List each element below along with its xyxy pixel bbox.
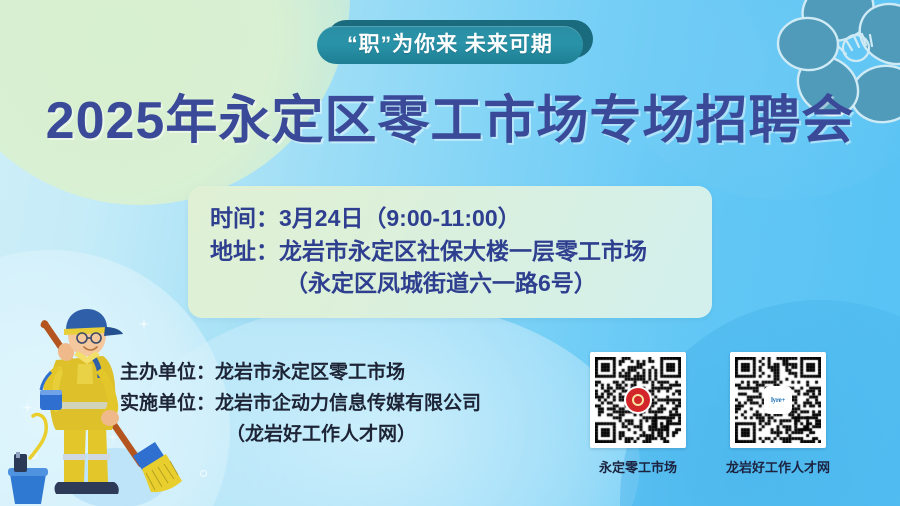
qr-center-logo-emblem-icon [626,388,650,412]
qr-code-row: 永定零工市场 lyre+ 龙岩好工作人才网 [590,352,830,476]
worker-with-broom-illustration [4,306,204,506]
ribbon-banner: “职”为你来 未来可期 [0,26,900,64]
event-address-line-2: （永定区凤城街道六一路6号） [210,267,690,300]
cap-icon [66,309,107,330]
ribbon-pill: “职”为你来 未来可期 [317,26,583,64]
qr-code-image-2[interactable]: lyre+ [730,352,826,448]
qr-code-item-2[interactable]: lyre+ 龙岩好工作人才网 [726,352,830,476]
qr-code-caption-2: 龙岩好工作人才网 [726,457,830,476]
hand [101,410,119,426]
qr-code-caption-1: 永定零工市场 [599,457,677,476]
event-address-line-1: 地址：龙岩市永定区社保大楼一层零工市场 [210,235,690,268]
hose-icon [30,414,46,458]
event-time-line: 时间：3月24日（9:00-11:00） [210,202,690,235]
qr-code-image-1[interactable] [590,352,686,448]
ribbon-slogan: “职”为你来 未来可期 [347,34,553,55]
qr-center-logo-lyre-icon: lyre+ [766,388,790,412]
page-title: 2025年永定区零工市场专场招聘会 [0,94,900,149]
bucket-icon [8,414,48,504]
event-info-card: 时间：3月24日（9:00-11:00） 地址：龙岩市永定区社保大楼一层零工市场… [188,186,712,318]
recruitment-poster: “职”为你来 未来可期 2025年永定区零工市场专场招聘会 时间：3月24日（9… [0,0,900,506]
qr-logo-text: lyre+ [771,396,785,404]
qr-code-item-1[interactable]: 永定零工市场 [590,352,686,476]
